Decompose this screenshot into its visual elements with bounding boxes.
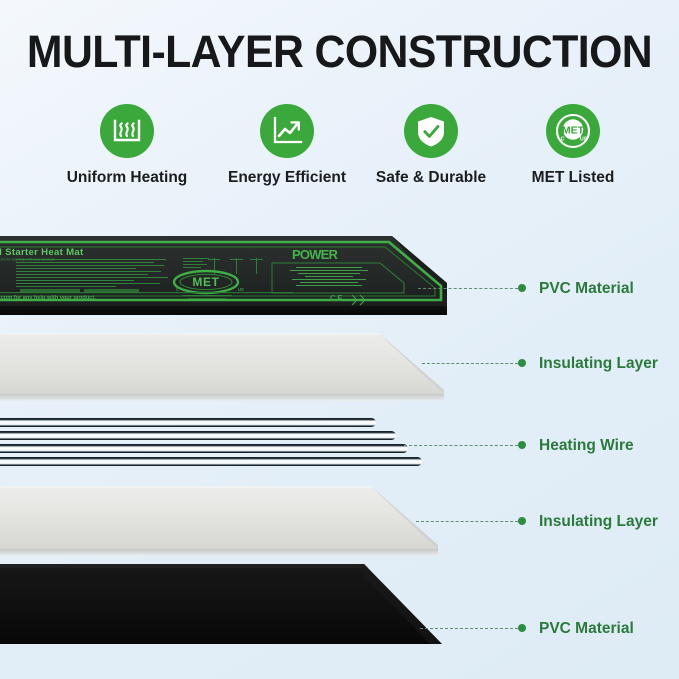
mat-met-left: C: [176, 287, 179, 292]
layer-pvc-material-bottom: [0, 558, 462, 658]
layer-pvc-material-top: d Starter Heat Mat s.com for any help wi…: [0, 228, 462, 326]
infographic-canvas: MULTI-LAYER CONSTRUCTION Uniform Heating: [0, 0, 679, 679]
leader-dot-insulating-bottom: [518, 517, 526, 525]
heating-wire-strand: [0, 444, 408, 453]
feature-icon-circle: [260, 104, 314, 158]
mat-cert-text: CE: [330, 294, 344, 303]
page-title: MULTI-LAYER CONSTRUCTION: [17, 26, 662, 78]
feature-icon-circle: [404, 104, 458, 158]
layer-label-insulating-layer-bottom: Insulating Layer: [539, 513, 658, 531]
feature-icon-circle: [100, 104, 154, 158]
layer-label-pvc-material-bottom: PVC Material: [539, 620, 634, 638]
feature-badge-row: Uniform Heating Energy Efficient Safe: [0, 104, 679, 199]
pvc-bottom-shape: [0, 558, 462, 658]
feature-energy-efficient: Energy Efficient: [212, 104, 362, 187]
mat-top-shape: d Starter Heat Mat s.com for any help wi…: [0, 228, 462, 326]
feature-uniform-heating: Uniform Heating: [52, 104, 202, 187]
feature-label: Safe & Durable: [356, 169, 506, 187]
leader-dot-pvc-top: [518, 284, 526, 292]
layer-heating-wire: [0, 416, 462, 484]
leader-line-heating-wire: [404, 445, 518, 446]
mat-brand-logo: POWER: [292, 247, 339, 262]
met-mark-right-label: US: [580, 136, 588, 142]
layer-insulating-layer-top: [0, 332, 462, 414]
feature-label: MET Listed: [498, 169, 648, 187]
leader-dot-pvc-bottom: [518, 624, 526, 632]
leader-line-pvc-bottom: [420, 628, 518, 629]
heating-wire-strand: [0, 418, 376, 427]
mat-footer-note: s.com for any help with your product.: [0, 295, 96, 301]
heating-wire-strand: [0, 431, 396, 440]
heat-waves-icon: [100, 104, 154, 158]
mat-met-text: MET: [192, 275, 219, 289]
feature-safe-durable: Safe & Durable: [356, 104, 506, 187]
rising-chart-arrow-icon: [260, 104, 314, 158]
met-certification-icon: MET C US: [546, 104, 600, 158]
leader-dot-heating-wire: [518, 441, 526, 449]
layer-label-pvc-material-top: PVC Material: [539, 280, 634, 298]
feature-label: Uniform Heating: [52, 169, 202, 187]
met-mark-left-label: C: [561, 136, 565, 142]
insulating-slab-shape: [0, 332, 462, 414]
layer-label-insulating-layer-top: Insulating Layer: [539, 355, 658, 373]
leader-line-insulating-top: [422, 363, 518, 364]
heating-wire-group: [0, 416, 462, 484]
mat-product-title: d Starter Heat Mat: [0, 247, 84, 258]
feature-icon-circle: MET C US: [546, 104, 600, 158]
layer-insulating-layer-bottom: [0, 483, 462, 569]
met-mark-text: MET: [562, 124, 585, 136]
leader-line-pvc-top: [418, 288, 518, 289]
heating-wire-strand: [0, 457, 422, 466]
insulating-slab-shape: [0, 483, 462, 569]
feature-met-listed: MET C US MET Listed: [498, 104, 648, 187]
mat-met-right: US: [238, 287, 244, 292]
shield-check-icon: [404, 104, 458, 158]
feature-label: Energy Efficient: [212, 169, 362, 187]
exploded-layer-stack: d Starter Heat Mat s.com for any help wi…: [0, 228, 679, 658]
leader-line-insulating-bottom: [416, 521, 518, 522]
leader-dot-insulating-top: [518, 359, 526, 367]
layer-label-heating-wire: Heating Wire: [539, 437, 634, 455]
